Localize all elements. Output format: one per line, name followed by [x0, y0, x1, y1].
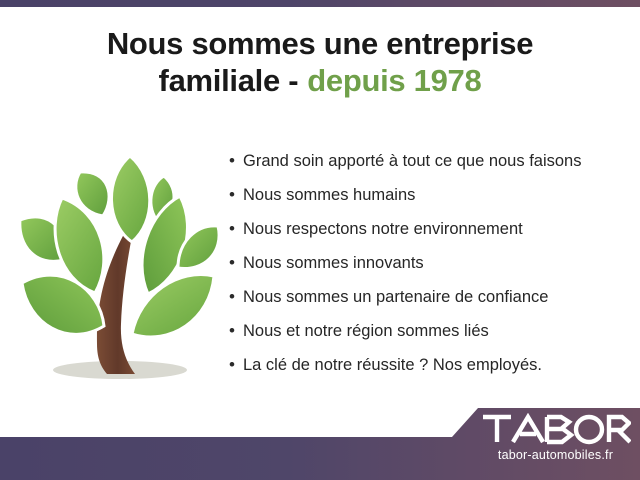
- footer-bar: tabor-automobiles.fr: [0, 404, 640, 480]
- list-item: • Grand soin apporté à tout ce que nous …: [229, 150, 629, 184]
- list-item: • Nous sommes innovants: [229, 252, 629, 286]
- logo-letter-b: [547, 417, 571, 442]
- bullet-icon: •: [229, 286, 243, 308]
- bullet-icon: •: [229, 218, 243, 240]
- bullet-icon: •: [229, 184, 243, 206]
- list-item-label: Grand soin apporté à tout ce que nous fa…: [243, 150, 581, 172]
- page-title: Nous sommes une entreprise familiale -de…: [0, 26, 640, 99]
- brand-logo[interactable]: tabor-automobiles.fr: [478, 413, 633, 462]
- logo-letter-a: [513, 417, 543, 442]
- list-item: • Nous sommes un partenaire de confiance: [229, 286, 629, 320]
- tree-illustration: [8, 148, 233, 403]
- headline-line-2: familiale -depuis 1978: [0, 63, 640, 100]
- logo-letter-t: [483, 417, 511, 442]
- bullet-icon: •: [229, 252, 243, 274]
- list-item: • Nous sommes humains: [229, 184, 629, 218]
- list-item: • Nous et notre région sommes liés: [229, 320, 629, 354]
- brand-wordmark-tabor: [478, 413, 633, 447]
- headline-line-1: Nous sommes une entreprise: [0, 26, 640, 63]
- bullet-icon: •: [229, 150, 243, 172]
- list-item-label: Nous respectons notre environnement: [243, 218, 523, 240]
- logo-letter-r: [609, 417, 630, 442]
- list-item: • La clé de notre réussite ? Nos employé…: [229, 354, 629, 388]
- headline-line-2-accent: depuis 1978: [307, 63, 481, 98]
- bullet-icon: •: [229, 354, 243, 376]
- list-item-label: Nous sommes innovants: [243, 252, 424, 274]
- list-item-label: La clé de notre réussite ? Nos employés.: [243, 354, 542, 376]
- list-item: • Nous respectons notre environnement: [229, 218, 629, 252]
- slide-canvas: Nous sommes une entreprise familiale -de…: [0, 0, 640, 480]
- list-item-label: Nous et notre région sommes liés: [243, 320, 489, 342]
- headline-line-2-plain: familiale -: [159, 63, 299, 98]
- logo-letter-o: [576, 417, 602, 442]
- top-accent-bar: [0, 0, 640, 7]
- benefits-list: • Grand soin apporté à tout ce que nous …: [229, 150, 629, 388]
- bullet-icon: •: [229, 320, 243, 342]
- list-item-label: Nous sommes humains: [243, 184, 415, 206]
- brand-url[interactable]: tabor-automobiles.fr: [478, 448, 633, 462]
- leaf-top-center: [111, 156, 149, 242]
- list-item-label: Nous sommes un partenaire de confiance: [243, 286, 548, 308]
